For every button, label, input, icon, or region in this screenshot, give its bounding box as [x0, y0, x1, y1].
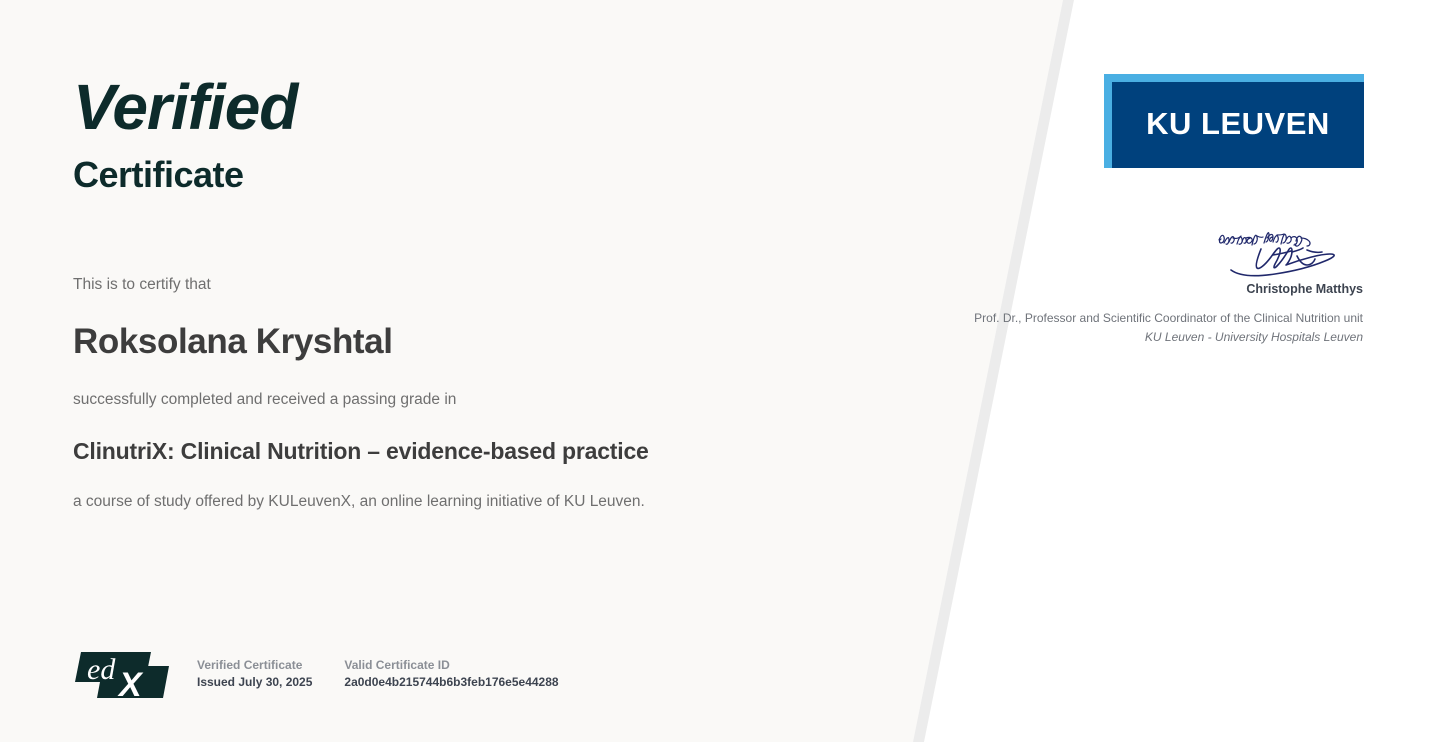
certificate-title-certificate: Certificate — [73, 155, 244, 195]
certificate-id-label: Valid Certificate ID — [344, 657, 558, 674]
certificate-title-verified: Verified — [73, 73, 297, 141]
certificate-id-group: Valid Certificate ID 2a0d0e4b215744b6b3f… — [344, 657, 558, 691]
course-title: ClinutriX: Clinical Nutrition – evidence… — [73, 435, 649, 467]
course-offered-statement: a course of study offered by KULeuvenX, … — [73, 492, 645, 512]
certificate-type-group: Verified Certificate Issued July 30, 202… — [197, 657, 312, 691]
signer-name: Christophe Matthys — [923, 281, 1363, 298]
ku-leuven-logo-text: KU LEUVEN — [1146, 106, 1330, 142]
certificate-id-value: 2a0d0e4b215744b6b3feb176e5e44288 — [344, 674, 558, 691]
certificate-issued-date: Issued July 30, 2025 — [197, 674, 312, 691]
svg-text:X: X — [117, 666, 144, 700]
ku-leuven-logo: KU LEUVEN — [1104, 74, 1364, 168]
edx-logo-icon: ed X — [73, 648, 169, 700]
signature-block: Christophe Matthys Prof. Dr., Professor … — [923, 218, 1363, 346]
svg-text:ed: ed — [87, 653, 116, 686]
certificate-footer: ed X Verified Certificate Issued July 30… — [73, 648, 559, 704]
verified-certificate: Verified Certificate This is to certify … — [0, 0, 1435, 742]
signer-role: Prof. Dr., Professor and Scientific Coor… — [923, 310, 1363, 327]
completion-statement: successfully completed and received a pa… — [73, 390, 456, 410]
handwritten-signature-icon — [1209, 218, 1359, 280]
certificate-body: Verified Certificate This is to certify … — [73, 0, 873, 742]
footer-metadata: Verified Certificate Issued July 30, 202… — [197, 648, 559, 691]
certify-statement: This is to certify that — [73, 275, 211, 295]
certificate-type-label: Verified Certificate — [197, 657, 312, 674]
signer-organization: KU Leuven - University Hospitals Leuven — [923, 329, 1363, 346]
ku-leuven-logo-plate: KU LEUVEN — [1112, 82, 1364, 168]
recipient-name: Roksolana Kryshtal — [73, 320, 393, 364]
